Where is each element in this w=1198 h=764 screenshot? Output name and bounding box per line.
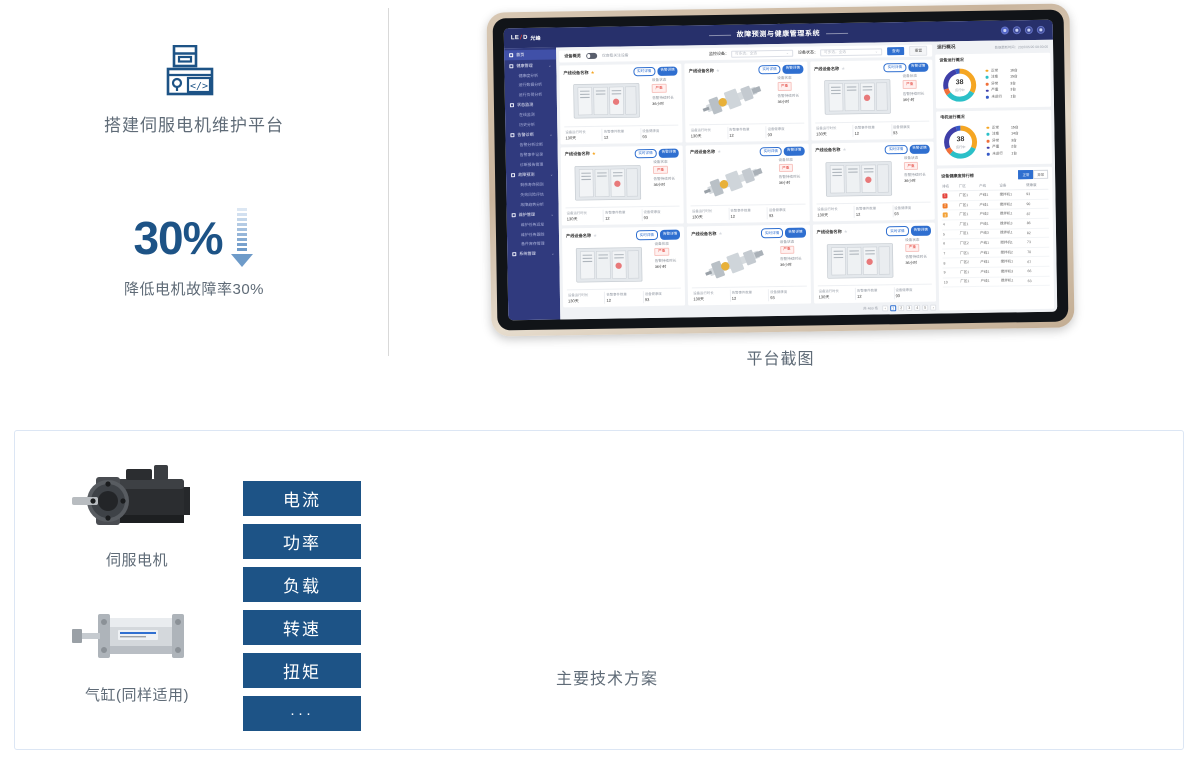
card-stat: 告警事件数量12 xyxy=(856,287,895,300)
table-cell-rank: 4 xyxy=(942,220,959,230)
table-cell: 搅拌机3 xyxy=(999,219,1026,229)
device-filter: 监控设备： 可多选，全选 ⌄ xyxy=(709,49,793,57)
card-stat: 告警事件数量12 xyxy=(603,128,642,141)
card-stat-key: 告警事件数量 xyxy=(604,128,641,134)
svg-text:</>: </> xyxy=(190,81,208,92)
table-cell: 厂区1 xyxy=(959,248,979,258)
card-stat: 设备健康度93 xyxy=(892,123,930,136)
legend-label: 未运行 xyxy=(992,151,1008,156)
table-cell: 87 xyxy=(1026,209,1049,219)
table-cell-rank: 10 xyxy=(943,277,960,287)
status-badge: 严重 xyxy=(777,82,791,90)
phm-application: LE / D 光峰 故障预测与健康管理系统 xyxy=(504,20,1058,321)
favorite-star-icon[interactable]: ★ xyxy=(593,233,597,239)
table-cell: 搅拌机1 xyxy=(999,228,1026,238)
card-stat-key: 设备健康度 xyxy=(643,209,680,215)
card-body: 设备状态严重告警持续时长36小时 xyxy=(565,160,680,206)
logo-cn: 光峰 xyxy=(530,34,541,41)
app-body: 首页 健康管理 ⌄ 健康度分析 运行数据分析 运行负荷分 xyxy=(504,40,1057,321)
card-title: 产线设备名称 xyxy=(814,66,839,72)
legend-label: 未运行 xyxy=(991,94,1007,99)
card-stat-value: 93 xyxy=(642,133,679,139)
card-stat: 设备运行时长130天 xyxy=(564,128,603,141)
card-stat-key: 设备运行时长 xyxy=(567,210,604,216)
chevron-down-icon: ⌄ xyxy=(875,49,878,53)
card-stat: 设备运行时长130天 xyxy=(567,292,606,305)
duration-value: 36小时 xyxy=(904,179,930,184)
next-page-button[interactable]: › xyxy=(930,305,936,311)
segment-abnormal[interactable]: 异常 xyxy=(1033,170,1048,179)
legend-dot xyxy=(987,146,990,149)
card-stat-key: 告警事件数量 xyxy=(605,210,642,216)
device-card-grid: 产线设备名称★实时详情告警详情设备状态严重告警持续时长36小时设备运行时长130… xyxy=(559,60,936,308)
card-actions: 实时详情告警详情 xyxy=(634,148,679,158)
device-donut-chart: 38 运行中 xyxy=(939,65,980,106)
card-title: 产线设备名称 xyxy=(563,70,588,76)
donut2-row: 38 运行中 正常15台注意14台异常3台严重2台未运行1台 xyxy=(940,121,1048,163)
card-body: 设备状态严重告警持续时长36小时 xyxy=(691,239,806,285)
motor-donut-chart: 38 运行中 xyxy=(940,122,981,163)
card-stat: 设备健康度93 xyxy=(642,209,680,222)
table-cell: 搅拌机1 xyxy=(998,190,1025,200)
predict-icon xyxy=(511,173,515,177)
duration-key: 告警持续时长 xyxy=(903,91,929,96)
card-footer: 设备运行时长130天告警事件数量12设备健康度93 xyxy=(566,206,681,223)
chevron-down-icon: ⌄ xyxy=(548,63,551,67)
card-status-col: 设备状态严重告警持续时长36小时 xyxy=(903,74,930,119)
card-header: 产线设备名称★实时详情告警详情 xyxy=(565,148,679,159)
realtime-detail-button[interactable]: 实时详情 xyxy=(633,67,656,77)
card-stat-key: 设备运行时长 xyxy=(565,128,602,134)
favorite-star-icon[interactable]: ★ xyxy=(842,147,846,153)
card-footer: 设备运行时长130天告警事件数量12设备健康度93 xyxy=(564,124,679,141)
card-stat: 设备健康度93 xyxy=(894,287,932,300)
card-header: 产线设备名称★实时详情告警详情 xyxy=(815,144,929,155)
status-key: 设备状态 xyxy=(905,237,931,242)
favorites-toggle[interactable] xyxy=(586,53,597,59)
realtime-detail-button[interactable]: 实时详情 xyxy=(885,145,908,155)
chevron-down-icon: ⌄ xyxy=(551,212,554,216)
favorite-star-icon[interactable]: ★ xyxy=(841,66,845,72)
legend-dot xyxy=(986,126,989,129)
legend-value: 2台 xyxy=(1011,145,1017,150)
duration-key: 告警持续时长 xyxy=(652,95,678,100)
device-card[interactable]: 产线设备名称★实时详情告警详情设备状态严重告警持续时长36小时设备运行时长130… xyxy=(685,62,809,143)
slide-root: </> 搭建伺服电机维护平台 30% xyxy=(0,0,1198,764)
status-key: 设备状态 xyxy=(654,241,680,246)
card-stat-value: 93 xyxy=(894,211,931,217)
table-cell-rank: 6 xyxy=(942,239,959,249)
legend-label: 严重 xyxy=(991,88,1007,93)
stat-caption: 降低电机故障率30% xyxy=(124,278,264,299)
sidebar-item-label: 维护管理 xyxy=(519,212,535,218)
equipment-label: 气缸(同样适用) xyxy=(63,684,211,705)
duration-value: 36小时 xyxy=(779,181,805,186)
app-title-wrap: 故障预测与健康管理系统 xyxy=(708,28,848,40)
card-stat: 设备健康度93 xyxy=(768,207,806,220)
card-status-col: 设备状态严重告警持续时长36小时 xyxy=(652,78,679,123)
donut2-legend: 正常15台注意14台异常3台严重2台未运行1台 xyxy=(986,124,1048,158)
logo-main: LE xyxy=(511,35,519,41)
table-column-header: 健康度 xyxy=(1025,181,1048,190)
device-filter-label: 监控设备： xyxy=(709,51,729,57)
table-cell: 产线1 xyxy=(979,267,999,277)
card-status-col: 设备状态严重告警持续时长36小时 xyxy=(653,160,680,205)
table-cell: 82 xyxy=(1026,228,1049,238)
card-stat-value: 12 xyxy=(732,295,769,301)
prev-page-button[interactable]: ‹ xyxy=(882,305,888,311)
card-title: 产线设备名称 xyxy=(815,147,840,153)
card-stat: 告警事件数量12 xyxy=(731,289,770,302)
table-column-header: 产线 xyxy=(978,182,998,191)
legend-label: 正常 xyxy=(992,125,1008,130)
update-time: 数据更新时间：2026/05/20 08:00:00 xyxy=(995,43,1048,49)
pneumatic-cylinder-photo xyxy=(66,592,208,680)
card-body: 设备状态严重告警持续时长36小时 xyxy=(564,78,679,124)
realtime-detail-button[interactable]: 实时详情 xyxy=(884,63,907,73)
app-title: 故障预测与健康管理系统 xyxy=(736,28,820,39)
table-cell: 搅拌机1 xyxy=(999,209,1026,219)
table-column-header: 设备 xyxy=(998,181,1025,190)
table-cell-rank: 1 xyxy=(941,191,958,201)
card-title: 产线设备名称 xyxy=(566,233,591,239)
status-badge: 严重 xyxy=(905,244,919,252)
card-footer: 设备运行时长130天告警事件数量12设备健康度93 xyxy=(690,122,805,139)
card-stat: 设备健康度93 xyxy=(644,291,682,304)
device-card[interactable]: 产线设备名称★实时详情告警详情设备状态严重告警持续时长36小时设备运行时长130… xyxy=(559,64,683,145)
card-stat-key: 告警事件数量 xyxy=(606,291,643,297)
device-image xyxy=(815,156,901,202)
segment-normal[interactable]: 正常 xyxy=(1018,170,1033,179)
status-badge: 严重 xyxy=(903,80,917,88)
status-key: 设备状态 xyxy=(777,76,803,81)
rank-segment-control[interactable]: 正常 异常 xyxy=(1018,170,1048,179)
card-header: 产线设备名称★实时详情告警详情 xyxy=(689,65,803,76)
favorite-star-icon[interactable]: ★ xyxy=(716,68,720,74)
right-panel-title: 运行概况 xyxy=(937,44,955,50)
rank-badge: 1 xyxy=(942,193,947,198)
parameter-column: 电流功率负载转速扭矩··· xyxy=(243,481,361,739)
legend-value: 3台 xyxy=(1010,88,1016,93)
rank-table-body: 1厂区1产线1搅拌机1932厂区1产线1搅拌机2903厂区1产线2搅拌机1874… xyxy=(941,189,1049,287)
reset-button[interactable]: 重置 xyxy=(909,46,927,56)
page-button[interactable]: 4 xyxy=(914,305,920,311)
card-stat: 设备健康度93 xyxy=(767,125,805,138)
legend-row: 严重2台 xyxy=(987,144,1048,150)
device-card[interactable]: 产线设备名称★实时详情告警详情设备状态严重告警持续时长36小时设备运行时长130… xyxy=(813,223,937,304)
device-select[interactable]: 可多选，全选 ⌄ xyxy=(731,49,793,57)
table-cell-rank: 7 xyxy=(942,248,959,258)
legend-row: 严重3台 xyxy=(986,87,1047,93)
card-status-col: 设备状态严重告警持续时长36小时 xyxy=(778,158,805,203)
main-tech-label: 主要技术方案 xyxy=(556,665,658,689)
table-cell: 67 xyxy=(1026,257,1049,267)
table-cell: 厂区2 xyxy=(959,258,979,268)
table-cell-rank: 2 xyxy=(942,200,959,210)
card-actions: 实时详情告警详情 xyxy=(886,226,931,236)
right-panel-header: 运行概况 数据更新时间：2026/05/20 08:00:00 xyxy=(935,43,1050,52)
parameter-box[interactable]: 负载 xyxy=(243,567,361,602)
alarm-detail-button[interactable]: 告警详情 xyxy=(911,226,932,236)
card-body: 设备状态严重告警持续时长36小时 xyxy=(690,158,805,204)
sidebar-item-label: 故障预测 xyxy=(518,172,534,178)
alarm-detail-button[interactable]: 告警详情 xyxy=(783,65,804,75)
device-image xyxy=(565,160,651,206)
device-card[interactable]: 产线设备名称★实时详情告警详情设备状态严重告警持续时长36小时设备运行时长130… xyxy=(686,143,810,224)
favorite-star-icon[interactable]: ★ xyxy=(717,149,721,155)
device-card[interactable]: 产线设备名称★实时详情告警详情设备状态严重告警持续时长36小时设备运行时长130… xyxy=(810,60,934,141)
card-stat: 设备健康度93 xyxy=(641,127,679,140)
card-stat: 告警事件数量12 xyxy=(728,126,767,139)
legend-label: 注意 xyxy=(991,75,1007,80)
legend-value: 15台 xyxy=(1010,74,1017,79)
legend-value: 1台 xyxy=(1011,151,1017,156)
legend-dot xyxy=(986,96,989,99)
donut1-center: 38 运行中 xyxy=(939,65,980,106)
donut1-number: 38 xyxy=(956,79,964,86)
card-stat-value: 130天 xyxy=(817,212,854,219)
card-actions: 实时详情告警详情 xyxy=(760,146,805,156)
alarm-detail-button[interactable]: 告警详情 xyxy=(660,230,681,240)
favorite-star-icon[interactable]: ★ xyxy=(844,229,848,235)
legend-value: 14台 xyxy=(1011,131,1018,136)
duration-value: 36小时 xyxy=(654,183,680,188)
sidebar-item-label: 首页 xyxy=(516,52,524,58)
stat-block: 30% 降低电机故障率30% xyxy=(124,208,264,299)
platform-caption: 搭建伺服电机维护平台 xyxy=(104,111,284,136)
card-footer: 设备运行时长130天告警事件数量12设备健康度93 xyxy=(567,288,682,305)
device-card[interactable]: 产线设备名称★实时详情告警详情设备状态严重告警持续时长36小时设备运行时长130… xyxy=(687,225,811,306)
card-stat: 设备运行时长130天 xyxy=(815,125,854,138)
sidebar-item-label: 告警诊断 xyxy=(517,132,533,138)
home-icon xyxy=(509,53,513,57)
legend-row: 注意15台 xyxy=(986,74,1047,80)
card-stat-key: 设备健康度 xyxy=(894,205,931,211)
card-title: 产线设备名称 xyxy=(565,151,590,157)
top-section: </> 搭建伺服电机维护平台 30% xyxy=(0,0,1198,400)
main-content: 设备概览 仅查看关注设备 监控设备： 可多选，全选 xyxy=(556,42,939,320)
bell-icon[interactable] xyxy=(1025,26,1033,34)
table-cell: 搅拌机2 xyxy=(999,247,1026,257)
table-cell: 70 xyxy=(1026,247,1049,257)
realtime-detail-button[interactable]: 实时详情 xyxy=(758,65,781,75)
servo-motor-photo xyxy=(66,457,208,545)
card-actions: 实时详情告警详情 xyxy=(885,144,930,154)
rank-badge: 3 xyxy=(943,213,948,218)
realtime-detail-button[interactable]: 实时详情 xyxy=(636,230,659,240)
device-image xyxy=(566,242,652,288)
legend-dot xyxy=(987,140,990,143)
device-overview-card: 设备运行概况 xyxy=(935,53,1051,109)
card-stat: 告警事件数量12 xyxy=(853,124,892,137)
legend-value: 16台 xyxy=(1010,68,1017,73)
status-select[interactable]: 可多选，全选 ⌄ xyxy=(820,48,882,56)
card-stat-key: 设备运行时长 xyxy=(692,208,729,214)
card-stat-key: 设备运行时长 xyxy=(817,206,854,212)
parameter-box[interactable]: 电流 xyxy=(243,481,361,516)
table-cell-rank: 9 xyxy=(943,268,960,278)
legend-dot xyxy=(986,76,989,79)
page-button[interactable]: 2 xyxy=(898,305,904,311)
rank-header: 设备健康度排行榜 正常 异常 xyxy=(941,170,1048,181)
card-status-col: 设备状态严重告警持续时长36小时 xyxy=(905,237,932,282)
status-badge: 严重 xyxy=(780,245,794,253)
device-image xyxy=(690,158,776,204)
gear-icon[interactable] xyxy=(1037,26,1045,34)
page-button[interactable]: 3 xyxy=(906,305,912,311)
donut1-legend: 正常16台注意15台异常3台严重3台未运行1台 xyxy=(985,67,1047,101)
table-cell: 产线1 xyxy=(979,219,999,229)
favorite-star-icon[interactable]: ★ xyxy=(591,70,595,76)
card-stat-value: 12 xyxy=(605,216,642,222)
realtime-detail-button[interactable]: 实时详情 xyxy=(761,228,784,238)
rank-table: 排名厂区产线设备健康度 1厂区1产线1搅拌机1932厂区1产线1搅拌机2903厂… xyxy=(941,181,1050,288)
duration-value: 36小时 xyxy=(655,264,681,269)
card-stat-value: 93 xyxy=(893,129,930,135)
device-card[interactable]: 产线设备名称★实时详情告警详情设备状态严重告警持续时长36小时设备运行时长130… xyxy=(562,227,686,308)
duration-key: 告警持续时长 xyxy=(780,257,806,262)
alarm-detail-button[interactable]: 告警详情 xyxy=(785,228,806,238)
device-card[interactable]: 产线设备名称★实时详情告警详情设备状态严重告警持续时长36小时设备运行时长130… xyxy=(561,145,685,226)
health-rank-card: 设备健康度排行榜 正常 异常 排名厂区产线设备健康度 xyxy=(937,167,1054,311)
query-button[interactable]: 查询 xyxy=(887,47,905,55)
card-body: 设备状态严重告警持续时长36小时 xyxy=(566,241,681,287)
parameter-box[interactable]: 功率 xyxy=(243,524,361,559)
card-stat-key: 告警事件数量 xyxy=(729,126,766,132)
table-cell-rank: 3 xyxy=(942,210,959,220)
spacer xyxy=(634,54,704,55)
status-badge: 严重 xyxy=(904,162,918,170)
table-cell: 产线1 xyxy=(979,238,999,248)
system-icon xyxy=(512,253,516,257)
duration-value: 36小时 xyxy=(780,262,806,267)
monitor-icon xyxy=(510,103,514,107)
status-badge: 严重 xyxy=(655,247,669,255)
legend-label: 严重 xyxy=(992,145,1008,150)
user-icon[interactable] xyxy=(1001,26,1009,34)
card-footer: 设备运行时长130天告警事件数量12设备健康度93 xyxy=(817,284,932,301)
realtime-detail-button[interactable]: 实时详情 xyxy=(634,149,657,159)
card-stat-value: 12 xyxy=(604,134,641,140)
table-cell: 产线1 xyxy=(979,248,999,258)
device-image xyxy=(564,78,650,124)
card-header: 产线设备名称★实时详情告警详情 xyxy=(814,63,928,74)
home-icon[interactable] xyxy=(1013,26,1021,34)
legend-label: 正常 xyxy=(991,68,1007,73)
device-image xyxy=(814,74,900,120)
alarm-detail-button[interactable]: 告警详情 xyxy=(908,63,929,73)
donut1-row: 38 运行中 正常16台注意15台异常3台严重3台未运行1台 xyxy=(939,64,1047,106)
legend-row: 正常15台 xyxy=(986,124,1047,130)
status-key: 设备状态 xyxy=(903,74,929,79)
device-card[interactable]: 产线设备名称★实时详情告警详情设备状态严重告警持续时长36小时设备运行时长130… xyxy=(811,141,935,222)
maintain-icon xyxy=(512,213,516,217)
parameter-box[interactable]: 转速 xyxy=(243,610,361,645)
status-badge: 严重 xyxy=(653,166,667,174)
table-cell: 厂区1 xyxy=(958,200,978,210)
card-header: 产线设备名称★实时详情告警详情 xyxy=(690,146,804,157)
card-stat: 告警事件数量12 xyxy=(855,206,894,219)
card-stat-key: 告警事件数量 xyxy=(856,206,893,212)
table-cell: 搅拌机3 xyxy=(1000,267,1027,277)
alarm-detail-button[interactable]: 告警详情 xyxy=(657,67,678,77)
legend-dot xyxy=(986,83,989,86)
table-cell: 73 xyxy=(1026,237,1049,247)
card-stat-value: 12 xyxy=(606,297,643,303)
card-stat-value: 130天 xyxy=(691,132,728,139)
page-button[interactable]: 1 xyxy=(890,305,896,311)
equipment-servo-motor: 伺服电机 xyxy=(63,457,211,570)
duration-key: 告警持续时长 xyxy=(655,258,681,263)
status-select-value: 可多选，全选 xyxy=(824,49,846,54)
sidebar-group-system[interactable]: 系统管理 ⌄ xyxy=(507,249,559,260)
card-stat-value: 12 xyxy=(854,130,891,136)
table-cell: 搅拌机1 xyxy=(1000,257,1027,267)
card-stat-key: 设备健康度 xyxy=(893,123,930,129)
legend-dot xyxy=(986,133,989,136)
stat-row: 30% xyxy=(133,208,254,268)
device-image xyxy=(817,238,903,284)
favorite-star-icon[interactable]: ★ xyxy=(592,151,596,157)
card-stat: 设备运行时长130天 xyxy=(816,206,855,219)
tablet-frame: LE / D 光峰 故障预测与健康管理系统 xyxy=(486,3,1074,336)
sidebar-item-label: 状态监测 xyxy=(517,102,533,108)
alarm-detail-button[interactable]: 告警详情 xyxy=(909,144,930,154)
equipment-cylinder: 气缸(同样适用) xyxy=(63,592,211,705)
card-stat-value: 93 xyxy=(644,215,681,221)
realtime-detail-button[interactable]: 实时详情 xyxy=(760,147,783,157)
legend-value: 15台 xyxy=(1011,125,1018,130)
card-status-col: 设备状态严重告警持续时长36小时 xyxy=(904,156,931,201)
realtime-detail-button[interactable]: 实时详情 xyxy=(886,226,909,236)
parameter-box[interactable]: ··· xyxy=(243,696,361,731)
favorite-star-icon[interactable]: ★ xyxy=(718,231,722,237)
title-rule-right xyxy=(826,32,848,33)
table-row[interactable]: 10厂区1产线1搅拌机163 xyxy=(943,276,1050,287)
legend-row: 异常3台 xyxy=(987,138,1048,144)
status-filter-label: 设备状态： xyxy=(798,49,818,55)
legend-dot xyxy=(987,153,990,156)
alarm-detail-button[interactable]: 告警详情 xyxy=(784,146,805,156)
vertical-divider xyxy=(388,8,389,356)
duration-key: 告警持续时长 xyxy=(779,175,805,180)
right-panel: 运行概况 数据更新时间：2026/05/20 08:00:00 设备运行概况 xyxy=(935,40,1057,314)
page-button[interactable]: 5 xyxy=(922,305,928,311)
card-body: 设备状态严重告警持续时长36小时 xyxy=(817,237,932,283)
duration-value: 36小时 xyxy=(778,99,804,104)
card-stat-value: 130天 xyxy=(692,214,729,221)
card-stat: 告警事件数量12 xyxy=(605,291,644,304)
card-stat-key: 设备健康度 xyxy=(642,127,679,133)
sidebar-item-label: 系统管理 xyxy=(519,251,535,257)
card-title: 产线设备名称 xyxy=(817,229,842,235)
parameter-box[interactable]: 扭矩 xyxy=(243,653,361,688)
header-icon-group[interactable] xyxy=(1001,26,1045,35)
chevron-down-icon: ⌄ xyxy=(551,252,554,256)
card-stat-key: 设备运行时长 xyxy=(568,292,605,298)
card-stat-key: 设备健康度 xyxy=(645,291,682,297)
alarm-detail-button[interactable]: 告警详情 xyxy=(659,148,680,158)
donut1-label: 运行中 xyxy=(955,87,965,92)
card-stat-value: 130天 xyxy=(693,296,730,303)
motor-overview-card: 电机运行概况 xyxy=(936,110,1052,166)
card-stat-value: 130天 xyxy=(816,131,853,138)
card-stat-value: 12 xyxy=(729,132,766,138)
status-key: 设备状态 xyxy=(778,158,804,163)
tablet-screen: LE / D 光峰 故障预测与健康管理系统 xyxy=(504,20,1058,321)
card-header: 产线设备名称★实时详情告警详情 xyxy=(691,228,805,239)
donut2-center: 38 运行中 xyxy=(940,122,981,163)
